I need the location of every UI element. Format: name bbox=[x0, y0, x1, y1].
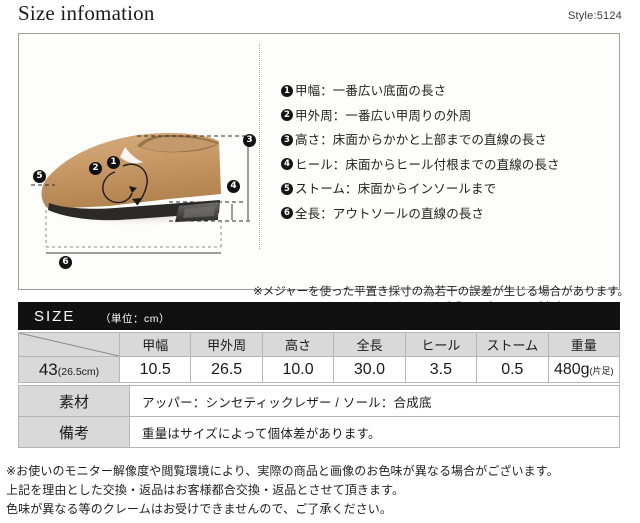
table-row: 素材 アッパー：シンセティックレザー / ソール：合成底 bbox=[19, 386, 620, 417]
size-column-header-6: 重量 bbox=[548, 333, 619, 357]
legend-badge-6: 6 bbox=[281, 207, 293, 219]
style-code: Style:5124 bbox=[568, 10, 622, 22]
table-row: 43(26.5cm) 10.5 26.5 10.0 30.0 3.5 0.5 4… bbox=[19, 357, 620, 383]
size-table-head: 甲幅 甲外周 高さ 全長 ヒール ストーム 重量 bbox=[19, 333, 620, 357]
legend-badge-4: 4 bbox=[281, 158, 293, 170]
legend-label-1: 甲幅：一番広い底面の長さ bbox=[295, 84, 631, 98]
size-table: 甲幅 甲外周 高さ 全長 ヒール ストーム 重量 43(26.5cm) 10.5… bbox=[18, 332, 620, 383]
size-column-header-3: 全長 bbox=[334, 333, 405, 357]
info-label-material: 素材 bbox=[19, 386, 130, 417]
product-info-body: 素材 アッパー：シンセティックレザー / ソール：合成底 備考 重量はサイズによ… bbox=[19, 386, 620, 448]
size-column-header-4: ヒール bbox=[405, 333, 476, 357]
diagram-marker-3: 3 bbox=[243, 134, 256, 147]
size-row-value: 43 bbox=[39, 360, 58, 379]
legend-item-6: 6 全長：アウトソールの直線の長さ bbox=[281, 207, 631, 221]
diagram-marker-5: 5 bbox=[33, 170, 46, 183]
size-cell-5: 0.5 bbox=[477, 357, 548, 383]
size-header-label: SIZE bbox=[34, 308, 75, 325]
legend-item-5: 5 ストーム：床面からインソールまで bbox=[281, 182, 631, 196]
diagram-marker-2: 2 bbox=[89, 162, 102, 175]
legend-item-3: 3 高さ：床面からかかと上部までの直線の長さ bbox=[281, 133, 631, 147]
diagram-panel: 1 2 3 4 5 6 1 甲幅：一番広い底面の長さ 2 甲外周：一番広い甲周り… bbox=[18, 33, 620, 290]
size-cell-weight: 480g(片足) bbox=[548, 357, 619, 383]
diagram-marker-4: 4 bbox=[227, 180, 240, 193]
legend-label-2: 甲外周：一番広い甲周りの外周 bbox=[295, 109, 631, 123]
diagram-marker-6: 6 bbox=[59, 256, 72, 269]
size-cell-1: 26.5 bbox=[191, 357, 262, 383]
size-table-header-row: 甲幅 甲外周 高さ 全長 ヒール ストーム 重量 bbox=[19, 333, 620, 357]
size-column-header-1: 甲外周 bbox=[191, 333, 262, 357]
size-row-sub: (26.5cm) bbox=[58, 366, 99, 378]
weight-sub: (片足) bbox=[590, 366, 614, 376]
size-column-header-2: 高さ bbox=[262, 333, 333, 357]
size-cell-2: 10.0 bbox=[262, 357, 333, 383]
legend-list: 1 甲幅：一番広い底面の長さ 2 甲外周：一番広い甲周りの外周 3 高さ：床面か… bbox=[281, 84, 631, 231]
legend-label-4: ヒール：床面からヒール付根までの直線の長さ bbox=[295, 158, 631, 172]
disclaimer-text: ※お使いのモニター解像度や閲覧環境により、実際の商品と画像のお色味が異なる場合が… bbox=[6, 462, 636, 519]
shoe-diagram-svg bbox=[19, 34, 259, 289]
legend-badge-2: 2 bbox=[281, 109, 293, 121]
size-section-header: SIZE （単位：cm） bbox=[18, 302, 620, 330]
info-label-remarks: 備考 bbox=[19, 417, 130, 448]
size-column-header-5: ストーム bbox=[477, 333, 548, 357]
disclaimer-line2: 上記を理由とした交換・返品はお客様都合交換・返品とさせて頂きます。 bbox=[6, 481, 636, 500]
legend-label-5: ストーム：床面からインソールまで bbox=[295, 182, 631, 196]
info-value-remarks: 重量はサイズによって個体差があります。 bbox=[130, 417, 620, 448]
weight-value: 480g bbox=[554, 361, 590, 378]
page-title: Size infomation bbox=[18, 1, 155, 26]
size-row-label: 43(26.5cm) bbox=[19, 357, 120, 383]
diagonal-slash-icon bbox=[19, 333, 119, 356]
legend-badge-1: 1 bbox=[281, 85, 293, 97]
size-cell-4: 3.5 bbox=[405, 357, 476, 383]
size-header-unit: （単位：cm） bbox=[100, 311, 170, 326]
panel-divider bbox=[259, 44, 260, 249]
size-cell-0: 10.5 bbox=[120, 357, 191, 383]
legend-item-1: 1 甲幅：一番広い底面の長さ bbox=[281, 84, 631, 98]
legend-item-4: 4 ヒール：床面からヒール付根までの直線の長さ bbox=[281, 158, 631, 172]
legend-item-2: 2 甲外周：一番広い甲周りの外周 bbox=[281, 109, 631, 123]
info-value-material: アッパー：シンセティックレザー / ソール：合成底 bbox=[130, 386, 620, 417]
size-table-corner-cell bbox=[19, 333, 120, 357]
page-header: Size infomation Style:5124 bbox=[0, 0, 640, 33]
disclaimer-line1: ※お使いのモニター解像度や閲覧環境により、実際の商品と画像のお色味が異なる場合が… bbox=[6, 462, 636, 481]
legend-badge-5: 5 bbox=[281, 183, 293, 195]
legend-label-6: 全長：アウトソールの直線の長さ bbox=[295, 207, 631, 221]
legend-badge-3: 3 bbox=[281, 134, 293, 146]
size-column-header-0: 甲幅 bbox=[120, 333, 191, 357]
measurement-note-line1: ※メジャーを使った平置き採寸の為若干の誤差が生じる場合があります。 bbox=[139, 284, 629, 300]
shoe-illustration: 1 2 3 4 5 6 bbox=[19, 34, 259, 289]
table-row: 備考 重量はサイズによって個体差があります。 bbox=[19, 417, 620, 448]
diagram-marker-1: 1 bbox=[107, 156, 120, 169]
disclaimer-line3: 色味が異なる等のクレームはお受けできませんので、ご了承ください。 bbox=[6, 500, 636, 519]
size-cell-3: 30.0 bbox=[334, 357, 405, 383]
size-table-body: 43(26.5cm) 10.5 26.5 10.0 30.0 3.5 0.5 4… bbox=[19, 357, 620, 383]
product-info-table: 素材 アッパー：シンセティックレザー / ソール：合成底 備考 重量はサイズによ… bbox=[18, 385, 620, 448]
legend-label-3: 高さ：床面からかかと上部までの直線の長さ bbox=[295, 133, 631, 147]
